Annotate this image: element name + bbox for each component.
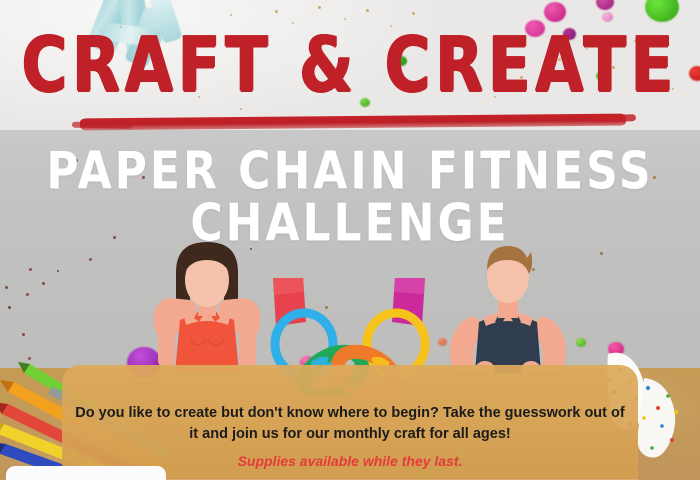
poster-subtitle-line2: CHALLENGE xyxy=(0,198,700,250)
bottom-white-tab xyxy=(6,466,166,480)
man-flexing-figure xyxy=(443,230,573,373)
poster-subtitle-line1: PAPER CHAIN FITNESS xyxy=(0,146,700,198)
poster-canvas: CRAFT & CREATE PAPER CHAIN FITNESS CHALL… xyxy=(0,0,700,480)
poster-headline: CRAFT & CREATE xyxy=(0,27,700,103)
info-panel: Do you like to create but don't know whe… xyxy=(62,365,638,480)
panel-body-text: Do you like to create but don't know whe… xyxy=(62,403,638,445)
